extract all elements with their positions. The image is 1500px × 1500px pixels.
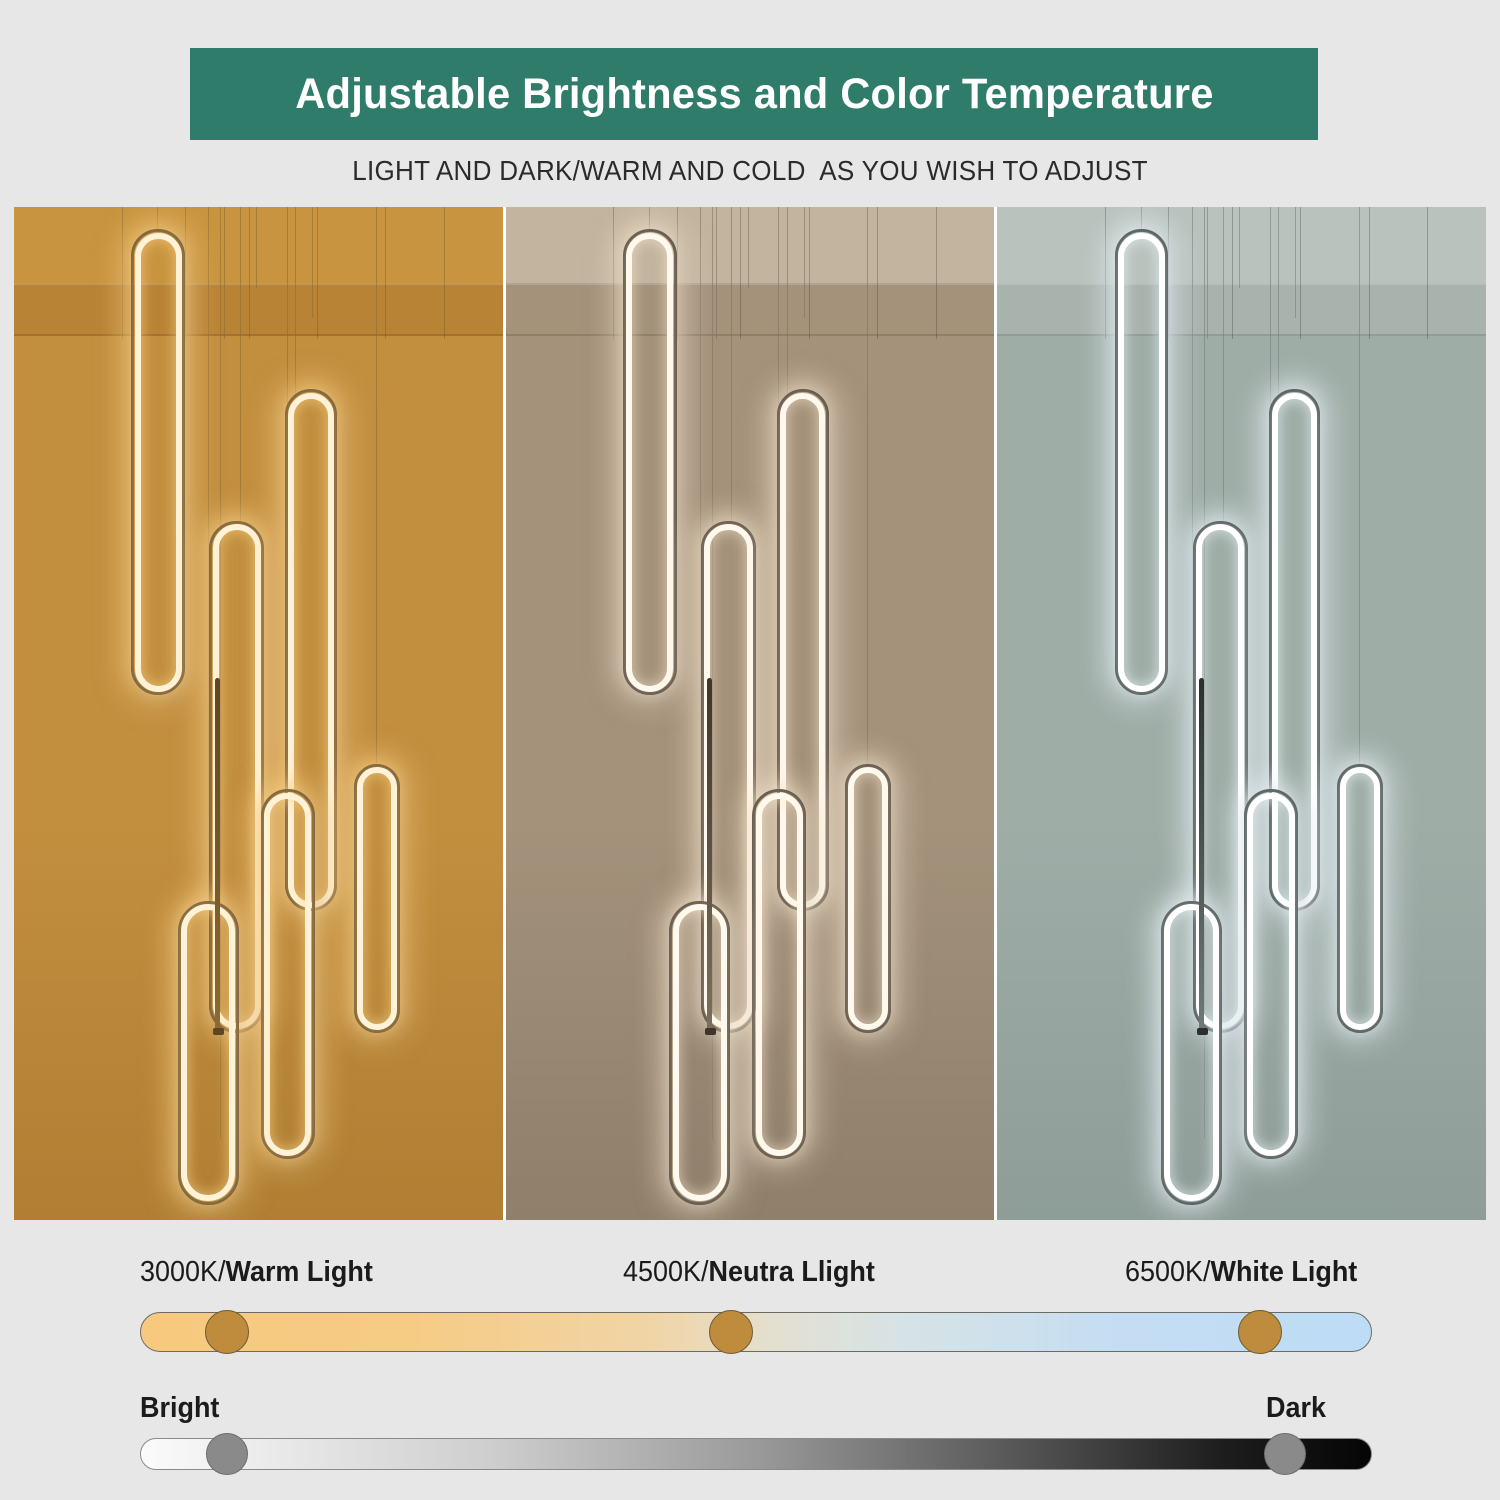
brightness-thumb-bright[interactable]	[206, 1433, 248, 1475]
ceiling-seam	[877, 207, 878, 339]
pendant-rod-cap	[213, 1028, 224, 1035]
ceiling-seam	[1300, 207, 1301, 339]
temperature-labels: 3000K/Warm Light 4500K/Neutra Llight 650…	[140, 1256, 1372, 1296]
ceiling-seam	[1427, 207, 1428, 339]
suspension-cable	[256, 207, 257, 288]
pendant-lamp-ring	[1161, 901, 1222, 1205]
ceiling-surface	[997, 207, 1486, 283]
ceiling-seam	[385, 207, 386, 339]
page-title: Adjustable Brightness and Color Temperat…	[295, 70, 1213, 119]
suspension-cable	[748, 207, 749, 288]
pendant-lamp-ring	[1115, 229, 1169, 695]
ceiling-seam	[1369, 207, 1370, 339]
cornice-band	[506, 283, 995, 336]
temperature-thumb-white[interactable]	[1238, 1310, 1282, 1354]
title-banner: Adjustable Brightness and Color Temperat…	[190, 48, 1318, 140]
ceiling-seam	[613, 207, 614, 339]
ceiling-seam	[1232, 207, 1233, 339]
pendant-lamp-ring	[752, 789, 806, 1159]
pendant-lamp-ring	[178, 901, 239, 1205]
pendant-lamp-ring	[1244, 789, 1298, 1159]
suspension-cable	[787, 207, 788, 394]
cornice-band	[14, 283, 503, 336]
pendant-lamp-ring	[261, 789, 315, 1159]
suspension-cable	[312, 207, 313, 318]
temperature-name-white: White Light	[1210, 1256, 1357, 1288]
pendant-lamp-ring	[669, 901, 730, 1205]
suspension-cable	[1223, 207, 1224, 526]
ceiling-seam	[249, 207, 250, 339]
brightness-thumb-dark[interactable]	[1264, 1433, 1306, 1475]
ceiling-surface	[506, 207, 995, 283]
brightness-labels: Bright Dark	[140, 1392, 1372, 1428]
photo-panel-white	[997, 207, 1486, 1220]
suspension-cable	[1141, 207, 1142, 231]
pendant-rod-cap	[1197, 1028, 1208, 1035]
ceiling-seam	[185, 207, 186, 339]
ceiling-seam	[1105, 207, 1106, 339]
ceiling-seam	[122, 207, 123, 339]
brightness-slider[interactable]	[140, 1438, 1372, 1470]
photo-panel-neutral	[506, 207, 995, 1220]
suspension-cable	[1359, 207, 1360, 769]
suspension-cable	[1207, 207, 1208, 339]
infographic-page: Adjustable Brightness and Color Temperat…	[0, 0, 1500, 1500]
pendant-lamp-ring	[354, 764, 400, 1032]
temperature-name-warm: Warm Light	[225, 1256, 372, 1288]
temperature-kelvin-white: 6500K/	[1125, 1256, 1210, 1288]
ceiling-seam	[809, 207, 810, 339]
temperature-name-neutral: Neutra Llight	[708, 1256, 874, 1288]
suspension-cable	[1278, 207, 1279, 394]
temperature-kelvin-warm: 3000K/	[140, 1256, 225, 1288]
suspension-cable	[804, 207, 805, 318]
temperature-label-white: 6500K/White Light	[1125, 1256, 1357, 1289]
temperature-label-neutral: 4500K/Neutra Llight	[623, 1256, 875, 1289]
temperature-label-warm: 3000K/Warm Light	[140, 1256, 373, 1289]
cornice-band	[997, 283, 1486, 336]
temperature-thumb-neutral[interactable]	[709, 1310, 753, 1354]
suspension-cable	[867, 207, 868, 769]
suspension-cable	[731, 207, 732, 526]
page-subtitle: LIGHT AND DARK/WARM AND COLD AS YOU WISH…	[53, 155, 1448, 187]
color-temperature-slider[interactable]	[140, 1312, 1372, 1352]
temperature-thumb-warm[interactable]	[205, 1310, 249, 1354]
ceiling-seam	[317, 207, 318, 339]
ceiling-seam	[740, 207, 741, 339]
ceiling-seam	[677, 207, 678, 339]
ceiling-surface	[14, 207, 503, 283]
temperature-kelvin-neutral: 4500K/	[623, 1256, 708, 1288]
brightness-label-dark: Dark	[1266, 1392, 1326, 1425]
pendant-lamp-ring	[623, 229, 677, 695]
photo-panel-warm	[14, 207, 503, 1220]
pendant-rod	[1199, 678, 1204, 1033]
suspension-cable	[716, 207, 717, 339]
pendant-lamp-ring	[131, 229, 185, 695]
pendant-rod-cap	[705, 1028, 716, 1035]
brightness-label-bright: Bright	[140, 1392, 219, 1425]
pendant-lamp-ring	[1337, 764, 1383, 1032]
ceiling-seam	[444, 207, 445, 339]
ceiling-seam	[1168, 207, 1169, 339]
suspension-cable	[295, 207, 296, 394]
pendant-rod	[707, 678, 712, 1033]
suspension-cable	[649, 207, 650, 231]
suspension-cable	[157, 207, 158, 231]
pendant-lamp-ring	[845, 764, 891, 1032]
suspension-cable	[1295, 207, 1296, 318]
photo-comparison-strip	[14, 207, 1486, 1220]
suspension-cable	[224, 207, 225, 339]
suspension-cable	[376, 207, 377, 769]
suspension-cable	[240, 207, 241, 526]
pendant-rod	[215, 678, 220, 1033]
suspension-cable	[1239, 207, 1240, 288]
ceiling-seam	[936, 207, 937, 339]
